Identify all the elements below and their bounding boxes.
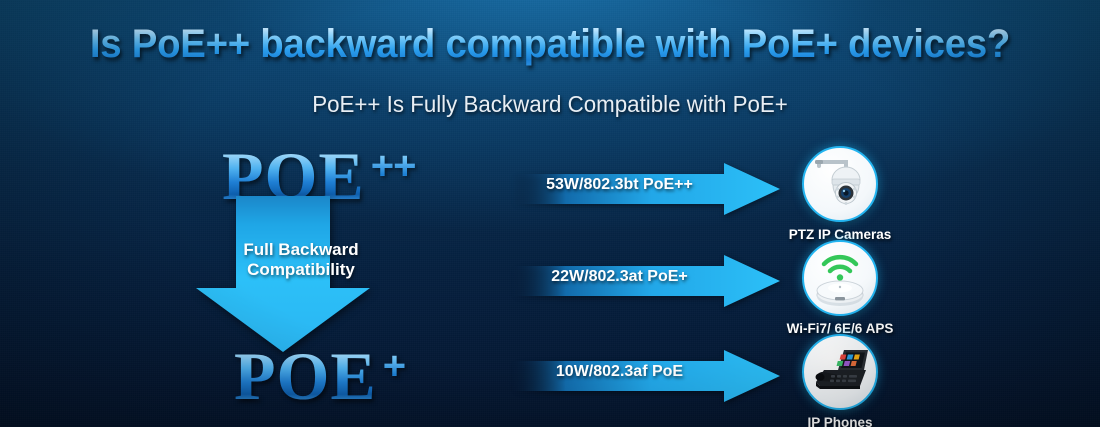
poe-plus-plus-suffix: ++ <box>371 144 416 188</box>
ip-desk-phone-icon <box>804 336 876 408</box>
power-flow-label-3: 10W/802.3af PoE <box>512 363 727 381</box>
device-icon-badge <box>802 146 878 222</box>
power-flow-label-2: 22W/802.3at PoE+ <box>512 268 727 286</box>
device-icon-badge <box>802 334 878 410</box>
wireless-access-point-icon <box>804 242 876 314</box>
page-title: Is PoE++ backward compatible with PoE+ d… <box>22 22 1078 67</box>
power-flow-label-1: 53W/802.3bt PoE++ <box>512 176 727 194</box>
compat-line-1: Full Backward <box>243 240 358 259</box>
ptz-dome-camera-icon <box>804 148 876 220</box>
compat-line-2: Compatibility <box>247 260 355 279</box>
poe-plus-word: POE <box>234 338 377 414</box>
device-label: IP Phones <box>780 415 900 427</box>
poe-plus-suffix: + <box>383 344 405 388</box>
device-icon-badge <box>802 240 878 316</box>
device-ip-phones: IP Phones <box>780 334 900 427</box>
poe-plus-wordmark: POE+ <box>234 342 405 410</box>
backward-compatibility-label: Full Backward Compatibility <box>196 240 406 280</box>
infographic-canvas: Is PoE++ backward compatible with PoE+ d… <box>0 0 1100 427</box>
device-ptz-ip-cameras: PTZ IP Cameras <box>780 146 900 242</box>
page-subtitle: PoE++ Is Fully Backward Compatible with … <box>17 91 1084 118</box>
device-wifi-access-points: Wi-Fi7/ 6E/6 APS <box>780 240 900 336</box>
